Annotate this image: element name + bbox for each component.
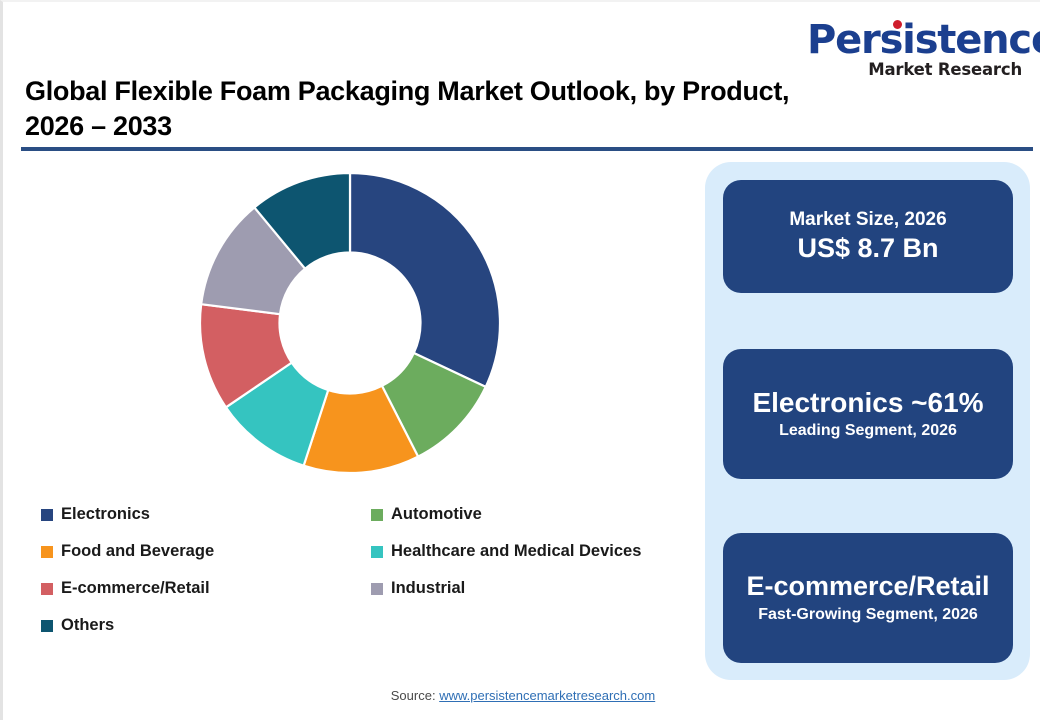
logo-brand-text: Persistence (807, 20, 1040, 60)
legend-swatch-icon (41, 546, 53, 558)
logo-accent-dot-icon (893, 20, 902, 29)
highlight-card-market-size: Market Size, 2026 US$ 8.7 Bn (723, 180, 1013, 293)
chart-legend: ElectronicsAutomotiveFood and BeverageHe… (41, 496, 701, 644)
logo-brand-label: Persistence (807, 17, 1040, 63)
legend-row: ElectronicsAutomotive (41, 496, 701, 533)
source-url-link[interactable]: www.persistencemarketresearch.com (439, 688, 655, 703)
legend-item-label: E-commerce/Retail (61, 579, 210, 598)
legend-item[interactable]: Food and Beverage (41, 542, 371, 561)
source-prefix: Source: (391, 688, 439, 703)
leading-segment-value: Electronics ~61% (723, 386, 1013, 420)
legend-swatch-icon (371, 583, 383, 595)
legend-row: Food and BeverageHealthcare and Medical … (41, 533, 701, 570)
leading-segment-label: Leading Segment, 2026 (723, 421, 1013, 442)
legend-item[interactable]: E-commerce/Retail (41, 579, 371, 598)
logo-subtitle: Market Research (807, 62, 1022, 79)
fast-growing-segment-value: E-commerce/Retail (723, 570, 1013, 602)
legend-swatch-icon (371, 546, 383, 558)
legend-item[interactable]: Industrial (371, 579, 701, 598)
legend-item-label: Automotive (391, 505, 482, 524)
fast-growing-segment-label: Fast-Growing Segment, 2026 (723, 605, 1013, 626)
highlight-card-leading-segment: Electronics ~61% Leading Segment, 2026 (723, 349, 1013, 479)
page-title: Global Flexible Foam Packaging Market Ou… (25, 74, 815, 143)
legend-item-label: Electronics (61, 505, 150, 524)
legend-row: Others (41, 607, 701, 644)
donut-chart (199, 172, 501, 474)
donut-chart-svg (199, 172, 501, 474)
legend-item-label: Others (61, 616, 114, 635)
market-size-value: US$ 8.7 Bn (723, 232, 1013, 264)
infographic-page: Persistence Market Research Global Flexi… (0, 0, 1040, 720)
legend-swatch-icon (41, 509, 53, 521)
legend-item[interactable]: Healthcare and Medical Devices (371, 542, 701, 561)
legend-item[interactable]: Others (41, 616, 371, 635)
donut-slice (350, 173, 500, 387)
donut-slice-group (200, 173, 500, 473)
highlights-panel: Market Size, 2026 US$ 8.7 Bn Electronics… (705, 162, 1030, 680)
company-logo: Persistence Market Research (807, 20, 1022, 79)
source-line: Source: www.persistencemarketresearch.co… (3, 688, 1040, 703)
legend-swatch-icon (41, 620, 53, 632)
legend-item-label: Healthcare and Medical Devices (391, 542, 641, 561)
legend-item[interactable]: Electronics (41, 505, 371, 524)
highlight-card-fast-growing-segment: E-commerce/Retail Fast-Growing Segment, … (723, 533, 1013, 663)
legend-item-label: Industrial (391, 579, 465, 598)
market-size-label: Market Size, 2026 (723, 208, 1013, 232)
legend-row: E-commerce/RetailIndustrial (41, 570, 701, 607)
legend-swatch-icon (41, 583, 53, 595)
title-divider (21, 147, 1033, 151)
legend-swatch-icon (371, 509, 383, 521)
legend-item[interactable]: Automotive (371, 505, 701, 524)
legend-item-label: Food and Beverage (61, 542, 214, 561)
